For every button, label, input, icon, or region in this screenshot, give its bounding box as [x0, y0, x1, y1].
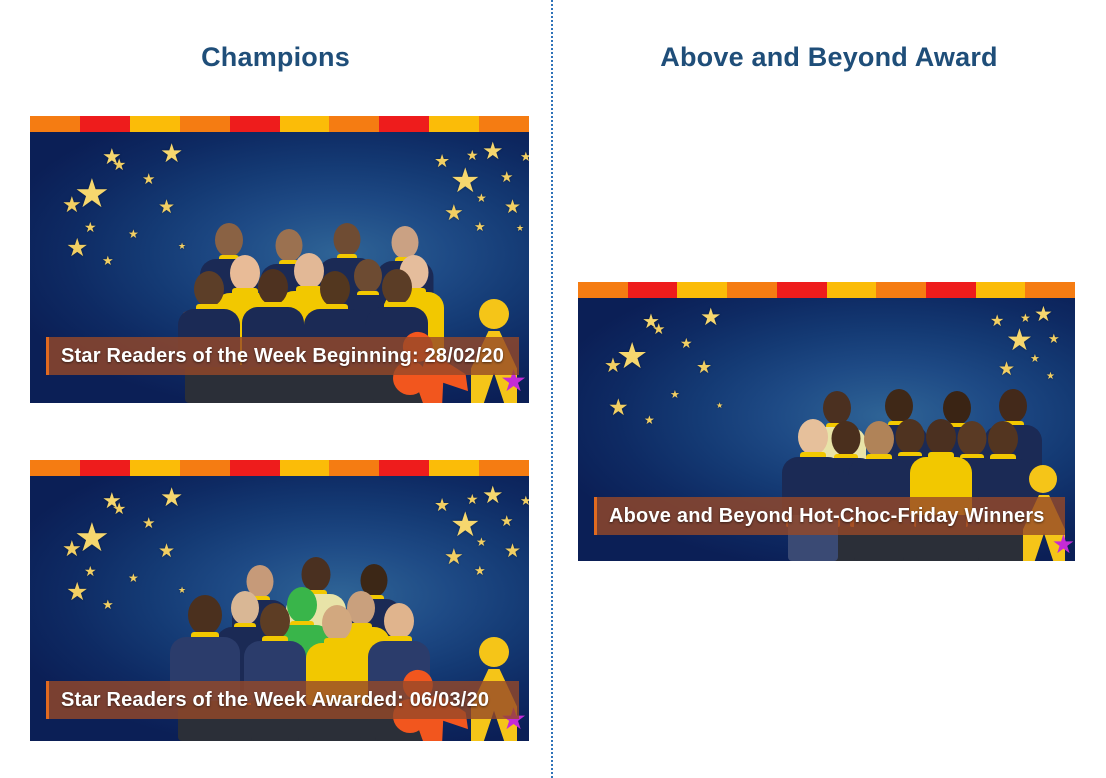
photo-subject [846, 421, 912, 561]
stripe-segment [379, 460, 429, 476]
star-icon: ★ [474, 220, 486, 233]
star-icon: ★ [102, 598, 114, 611]
star-icon: ★ [466, 492, 479, 506]
stripe-segment [677, 282, 727, 298]
stripe-segment [180, 460, 230, 476]
stripe-segment [727, 282, 777, 298]
star-icon: ★ [1048, 332, 1060, 345]
photo-card-star-readers-awarded[interactable]: ★ ★ ★ ★ ★ ★ ★ ★ ★ ★ ★ ★ ★ ★ ★ ★ ★ ★ ★ ★ … [30, 460, 529, 741]
stripe-segment [976, 282, 1026, 298]
star-icon: ★ [142, 172, 155, 187]
star-icon: ★ [84, 220, 97, 234]
caption-text: Star Readers of the Week Beginning: 28/0… [61, 345, 504, 368]
star-icon: ★ [476, 536, 487, 548]
photo-caption-star-readers-awarded: Star Readers of the Week Awarded: 06/03/… [46, 681, 519, 719]
star-icon: ★ [520, 494, 529, 507]
stripe-segment [329, 460, 379, 476]
caption-text: Star Readers of the Week Awarded: 06/03/… [61, 689, 489, 712]
star-icon: ★ [84, 564, 97, 578]
stripe-segment [628, 282, 678, 298]
star-icon: ★ [1006, 326, 1033, 356]
star-icon: ★ [158, 198, 175, 217]
stripe-segment [230, 116, 280, 132]
photo-subject [780, 419, 846, 561]
star-icon: ★ [474, 564, 486, 577]
stripe-segment [180, 116, 230, 132]
star-icon: ★ [158, 542, 175, 561]
stripe-segment [80, 460, 130, 476]
photo-caption-star-readers-beginning: Star Readers of the Week Beginning: 28/0… [46, 337, 519, 375]
stripe-segment [379, 116, 429, 132]
star-icon: ★ [466, 148, 479, 162]
star-icon: ★ [504, 542, 521, 561]
photo-subject [240, 269, 306, 403]
stripe-segment [876, 282, 926, 298]
stripe-segment [230, 460, 280, 476]
star-icon: ★ [642, 312, 660, 332]
stripe-segment [30, 460, 80, 476]
photo-card-star-readers-beginning[interactable]: ★ ★ ★ ★ ★ ★ ★ ★ ★ ★ ★ ★ ★ ★ ★ ★ ★ ★ ★ ★ … [30, 116, 529, 403]
star-icon: ★ [444, 202, 464, 224]
star-icon: ★ [434, 496, 450, 514]
stripe-segment [80, 116, 130, 132]
photo-subject [908, 419, 974, 561]
star-icon: ★ [680, 336, 693, 350]
star-icon: ★ [160, 484, 183, 510]
star-icon: ★ [482, 140, 504, 164]
star-icon: ★ [998, 360, 1015, 379]
star-icon: ★ [520, 150, 529, 163]
star-icon: ★ [178, 242, 186, 251]
star-icon: ★ [476, 192, 487, 204]
star-icon: ★ [142, 516, 155, 531]
photo-card-hot-choc-friday[interactable]: ★ ★ ★ ★ ★ ★ ★ ★ ★ ★ ★ ★ ★ ★ ★ ★ ★ ★ ★ [578, 282, 1075, 561]
star-icon: ★ [700, 306, 722, 330]
star-icon: ★ [504, 198, 521, 217]
color-stripe [30, 116, 529, 132]
star-icon: ★ [644, 414, 655, 426]
stripe-segment [30, 116, 80, 132]
star-icon: ★ [66, 236, 88, 261]
stripe-segment [479, 460, 529, 476]
color-stripe [578, 282, 1075, 298]
star-icon: ★ [66, 580, 88, 605]
star-icon: ★ [444, 546, 464, 568]
caption-text: Above and Beyond Hot-Choc-Friday Winners [609, 505, 1045, 528]
stripe-segment [827, 282, 877, 298]
star-icon: ★ [128, 572, 139, 584]
star-icon: ★ [608, 396, 629, 419]
star-icon: ★ [1046, 372, 1055, 382]
star-icon: ★ [604, 356, 622, 376]
photo-subject [242, 603, 308, 741]
star-icon: ★ [990, 314, 1004, 330]
star-icon: ★ [716, 402, 723, 410]
column-champions: Champions ★ ★ ★ ★ ★ ★ ★ ★ ★ ★ ★ [0, 0, 551, 778]
star-icon: ★ [696, 358, 712, 376]
star-icon: ★ [500, 170, 513, 185]
photo-caption-hot-choc-friday: Above and Beyond Hot-Choc-Friday Winners [594, 497, 1065, 535]
photo-subject [304, 605, 370, 741]
stripe-segment [329, 116, 379, 132]
stripe-segment [280, 460, 330, 476]
star-icon: ★ [516, 224, 524, 233]
column-above-and-beyond: Above and Beyond Award ★ ★ ★ ★ ★ ★ ★ ★ ★ [552, 0, 1106, 778]
star-icon: ★ [500, 514, 513, 529]
star-icon: ★ [482, 484, 504, 508]
star-icon: ★ [128, 228, 139, 240]
stripe-segment [479, 116, 529, 132]
stripe-segment [280, 116, 330, 132]
stripe-segment [926, 282, 976, 298]
star-icon: ★ [1020, 312, 1031, 324]
color-stripe [30, 460, 529, 476]
star-icon: ★ [62, 538, 82, 560]
star-icon: ★ [1030, 354, 1040, 365]
stripe-segment [130, 116, 180, 132]
star-icon: ★ [102, 490, 122, 512]
stripe-segment [130, 460, 180, 476]
star-icon: ★ [434, 152, 450, 170]
stripe-segment [429, 460, 479, 476]
star-icon: ★ [178, 586, 186, 595]
page-title-champions: Champions [0, 42, 551, 73]
star-icon: ★ [102, 254, 114, 267]
star-icon: ★ [102, 146, 122, 168]
stripe-segment [578, 282, 628, 298]
stripe-segment [777, 282, 827, 298]
star-icon: ★ [160, 140, 183, 166]
photo-subject [168, 595, 242, 741]
stripe-segment [429, 116, 479, 132]
star-icon: ★ [62, 194, 82, 216]
page-title-above-and-beyond: Above and Beyond Award [552, 42, 1106, 73]
star-icon: ★ [1034, 304, 1053, 325]
stripe-segment [1025, 282, 1075, 298]
star-icon: ★ [670, 390, 680, 401]
